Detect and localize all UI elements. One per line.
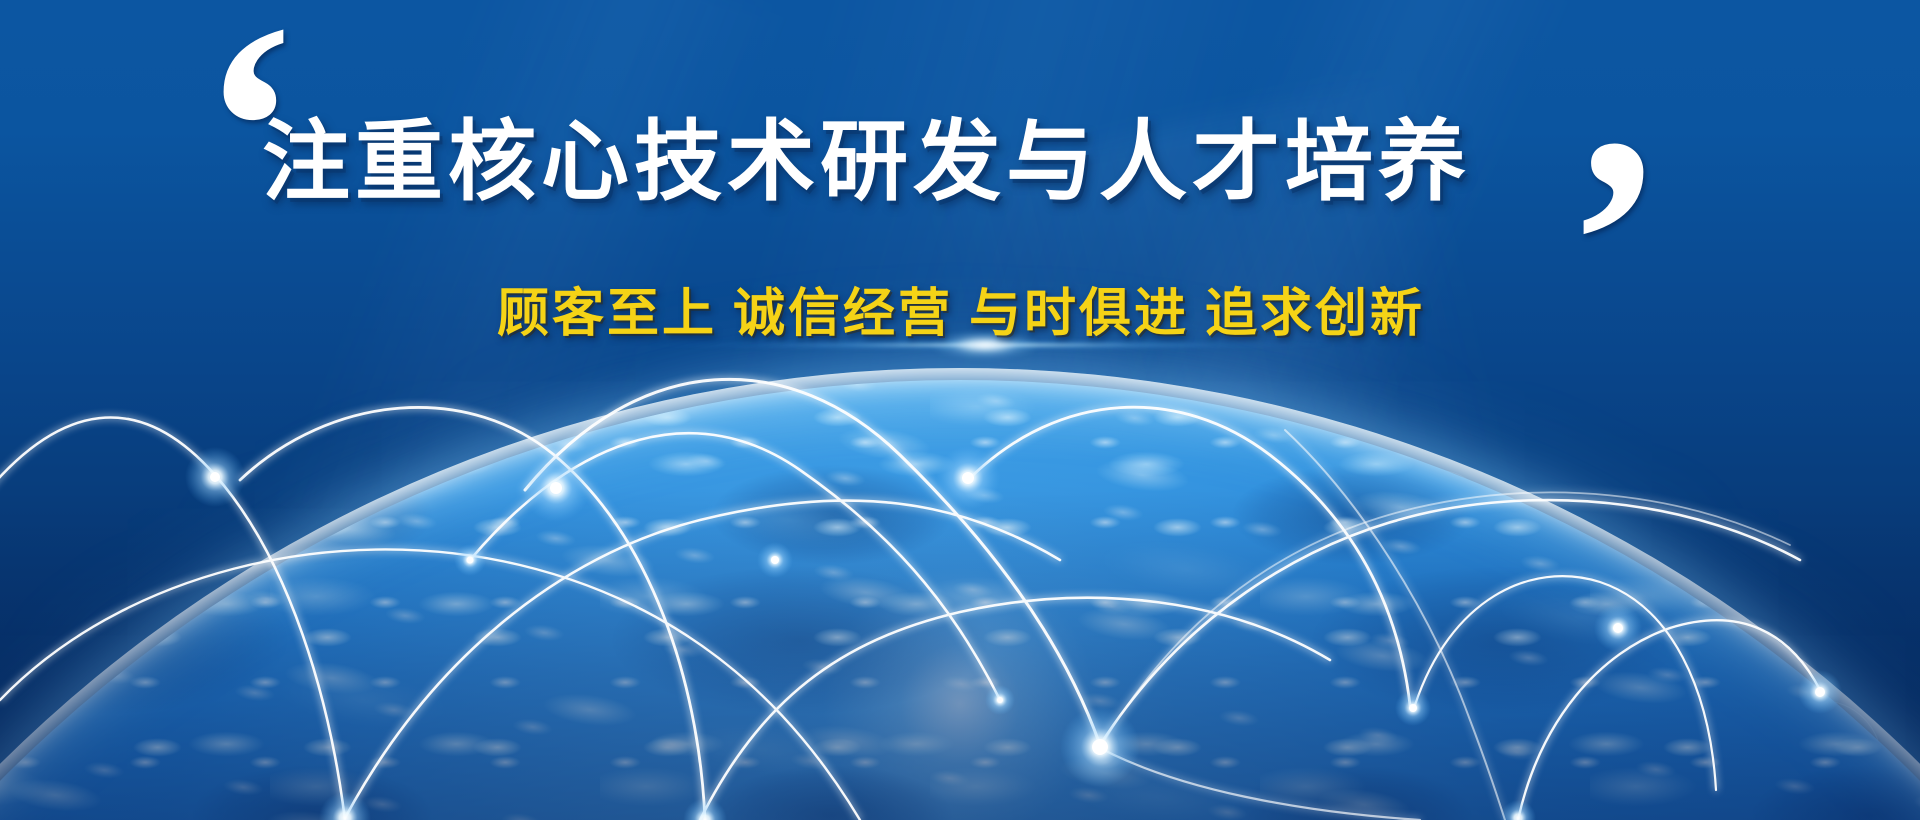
subtitle-slogan: 顾客至上 诚信经营 与时俱进 追求创新 (497, 285, 1425, 345)
headline-text: 注重核心技术研发与人才培养 (262, 118, 1471, 206)
banner-stage: ‘ 注重核心技术研发与人才培养 ’ 顾客至上 诚信经营 与时俱进 追求创新 (0, 0, 1920, 820)
closing-quote-mark: ’ (1565, 92, 1665, 392)
